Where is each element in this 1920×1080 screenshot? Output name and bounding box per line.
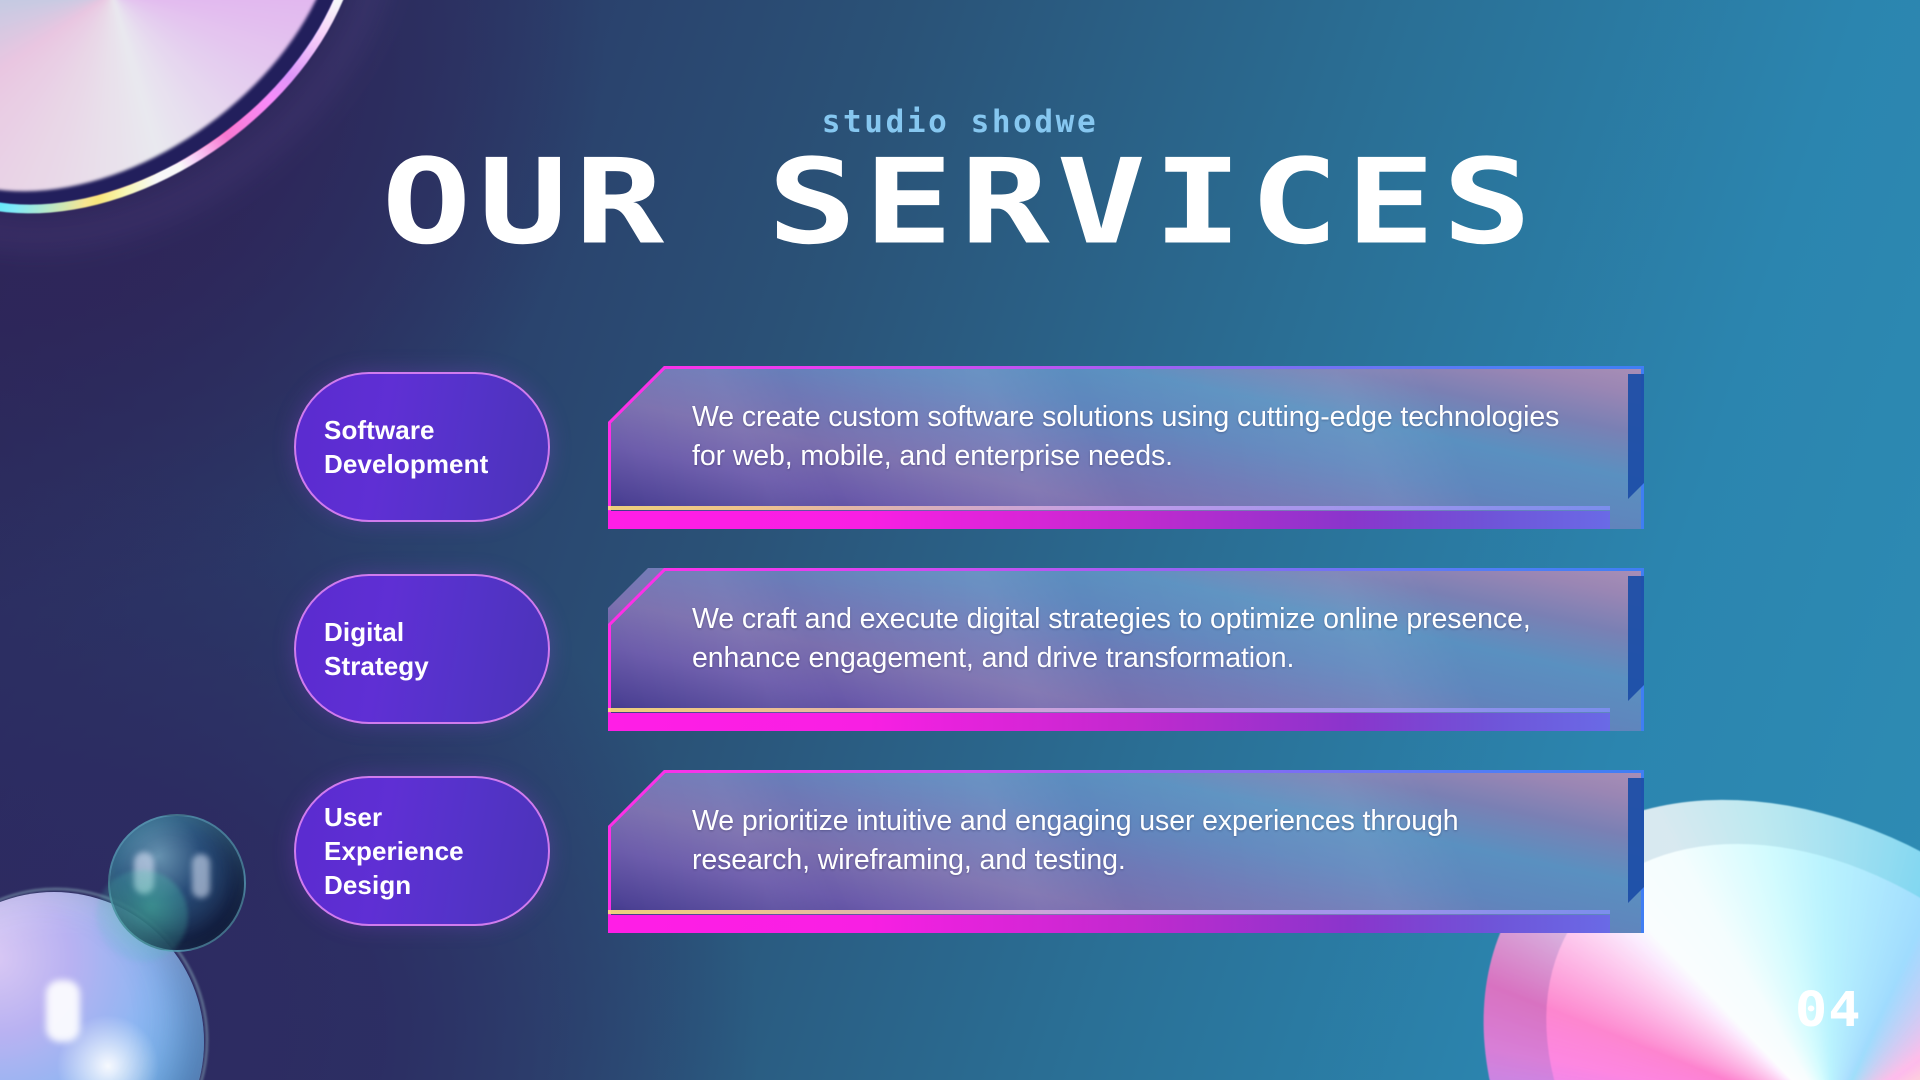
service-description: We craft and execute digital strategies … (692, 568, 1570, 709)
service-pill-label: DigitalStrategy (324, 615, 429, 684)
slide-header: studio shodwe OUR SERVICES (0, 104, 1920, 259)
service-row: UserExperienceDesign We prioritize intui… (0, 770, 1920, 933)
service-description: We prioritize intuitive and engaging use… (692, 770, 1570, 911)
services-list: SoftwareDevelopment We create custom sof… (0, 366, 1920, 972)
service-panel-accent-bar (608, 713, 1610, 731)
service-panel-software-development: We create custom software solutions usin… (608, 366, 1644, 529)
page-number: 04 (1795, 982, 1862, 1038)
iridescent-bubble-large-highlight (46, 980, 80, 1042)
page-title: OUR SERVICES (0, 144, 1920, 262)
service-panel-accent-bar (608, 915, 1610, 933)
slide-our-services: studio shodwe OUR SERVICES SoftwareDevel… (0, 0, 1920, 1080)
service-panel-user-experience-design: We prioritize intuitive and engaging use… (608, 770, 1644, 933)
service-pill-label: UserExperienceDesign (324, 800, 464, 903)
service-panel-accent-bar (608, 511, 1610, 529)
service-panel-digital-strategy: We craft and execute digital strategies … (608, 568, 1644, 731)
service-pill-software-development[interactable]: SoftwareDevelopment (294, 372, 550, 522)
service-pill-digital-strategy[interactable]: DigitalStrategy (294, 574, 550, 724)
service-row: DigitalStrategy We craft and execute dig… (0, 568, 1920, 731)
service-description: We create custom software solutions usin… (692, 366, 1570, 507)
service-pill-label: SoftwareDevelopment (324, 413, 488, 482)
service-pill-user-experience-design[interactable]: UserExperienceDesign (294, 776, 550, 926)
service-row: SoftwareDevelopment We create custom sof… (0, 366, 1920, 529)
